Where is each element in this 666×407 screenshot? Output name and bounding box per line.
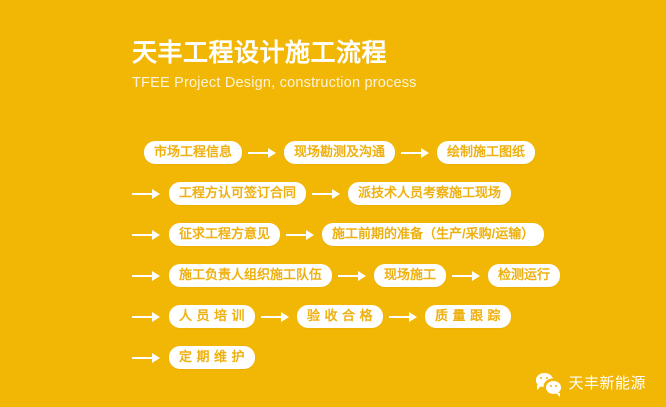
flow-row: 人员培训 验收合格 质量跟踪: [132, 296, 562, 337]
arrow-right-icon: [312, 188, 342, 200]
arrow-right-icon: [248, 147, 278, 159]
flow-node[interactable]: 验收合格: [297, 305, 383, 328]
page-title: 天丰工程设计施工流程: [132, 38, 612, 69]
flow-node[interactable]: 质量跟踪: [425, 305, 511, 328]
flow-row: 施工负责人组织施工队伍 现场施工 检测运行: [132, 255, 562, 296]
flow-node[interactable]: 施工负责人组织施工队伍: [169, 264, 332, 287]
flow-node[interactable]: 市场工程信息: [144, 141, 242, 164]
slide-canvas: 天丰工程设计施工流程 TFEE Project Design, construc…: [0, 0, 666, 407]
flow-node[interactable]: 检测运行: [488, 264, 560, 287]
flow-row: 工程方认可签订合同 派技术人员考察施工现场: [132, 173, 562, 214]
flow-row: 市场工程信息 现场勘测及沟通 绘制施工图纸: [132, 132, 562, 173]
flow-node[interactable]: 现场施工: [374, 264, 446, 287]
flow-node[interactable]: 派技术人员考察施工现场: [348, 182, 511, 205]
flow-node[interactable]: 人员培训: [169, 305, 255, 328]
arrow-right-icon: [132, 311, 162, 323]
arrow-right-icon: [132, 352, 162, 364]
flow-node[interactable]: 绘制施工图纸: [437, 141, 535, 164]
flow-node[interactable]: 施工前期的准备（生产/采购/运输）: [322, 223, 544, 246]
flow-node[interactable]: 征求工程方意见: [169, 223, 280, 246]
process-flow-diagram: 市场工程信息 现场勘测及沟通 绘制施工图纸 工程方认可签订合同 派技术人员考察施…: [132, 132, 562, 378]
arrow-right-icon: [401, 147, 431, 159]
arrow-right-icon: [286, 229, 316, 241]
arrow-right-icon: [338, 270, 368, 282]
page-subtitle: TFEE Project Design, construction proces…: [132, 74, 612, 92]
arrow-right-icon: [261, 311, 291, 323]
arrow-right-icon: [132, 229, 162, 241]
arrow-right-icon: [132, 188, 162, 200]
arrow-right-icon: [452, 270, 482, 282]
arrow-right-icon: [389, 311, 419, 323]
wechat-brand-footer[interactable]: 天丰新能源: [536, 373, 646, 394]
wechat-icon: [536, 373, 561, 394]
flow-row: 定期维护: [132, 337, 562, 378]
flow-node[interactable]: 工程方认可签订合同: [169, 182, 306, 205]
arrow-right-icon: [132, 270, 162, 282]
brand-name: 天丰新能源: [568, 374, 646, 393]
slide-header: 天丰工程设计施工流程 TFEE Project Design, construc…: [132, 38, 612, 92]
flow-row: 征求工程方意见 施工前期的准备（生产/采购/运输）: [132, 214, 562, 255]
flow-node[interactable]: 定期维护: [169, 346, 255, 369]
flow-node[interactable]: 现场勘测及沟通: [284, 141, 395, 164]
